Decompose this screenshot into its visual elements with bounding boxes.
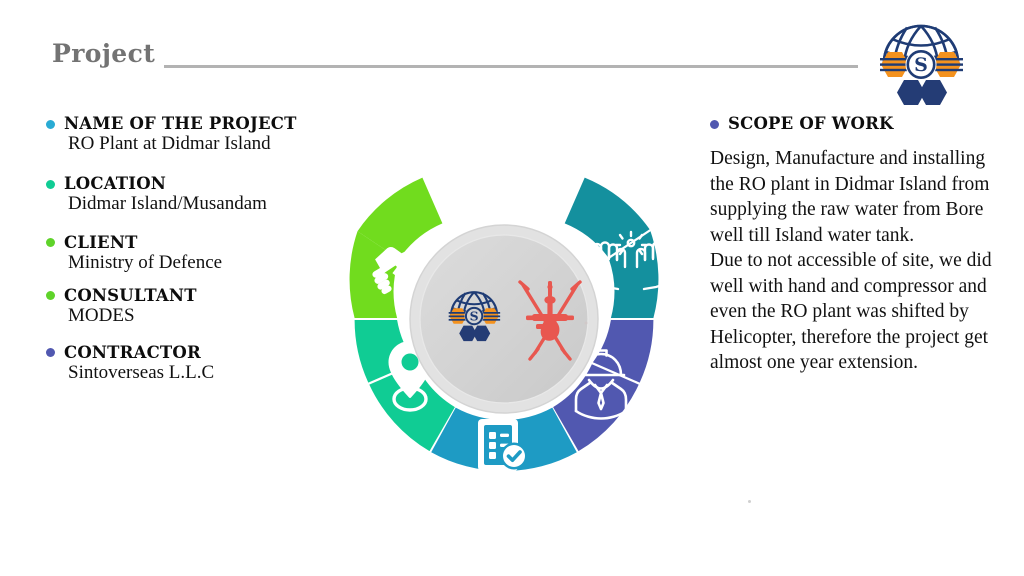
logo-svg: S bbox=[866, 8, 976, 108]
scope-of-work-block: SCOPE OF WORK Design, Manufacture and in… bbox=[710, 115, 1010, 375]
bullet-header: CONSULTANT bbox=[46, 287, 346, 305]
bullet-header: CONTRACTOR bbox=[46, 344, 346, 362]
scope-label: SCOPE OF WORK bbox=[728, 115, 894, 133]
list-item: CONTRACTOR Sintoverseas L.L.C bbox=[46, 344, 346, 385]
sintoverseas-logo-corner: S bbox=[866, 8, 976, 108]
bullet-header: NAME OF THE PROJECT bbox=[46, 115, 346, 133]
decorative-dot bbox=[748, 500, 751, 503]
scope-body: Design, Manufacture and installing the R… bbox=[710, 146, 1010, 375]
scope-paragraph: Due to not accessible of site, we did we… bbox=[710, 248, 1010, 375]
checklist-segment[interactable] bbox=[431, 408, 577, 471]
slide-root: Project bbox=[0, 0, 1024, 576]
bullet-dot-icon bbox=[46, 180, 55, 189]
bullet-header: SCOPE OF WORK bbox=[710, 115, 1010, 133]
list-item: CONSULTANT MODES bbox=[46, 287, 346, 328]
detail-label: CLIENT bbox=[64, 234, 138, 252]
list-item: NAME OF THE PROJECT RO Plant at Didmar I… bbox=[46, 115, 346, 156]
logo-letter-corner: S bbox=[914, 54, 928, 76]
list-item: LOCATION Didmar Island/Musandam bbox=[46, 175, 346, 216]
diagram-center: S bbox=[410, 225, 598, 413]
bullet-dot-icon bbox=[710, 120, 719, 129]
detail-value: Didmar Island/Musandam bbox=[68, 193, 346, 215]
detail-value: Ministry of Defence bbox=[68, 252, 346, 274]
scope-paragraph: Design, Manufacture and installing the R… bbox=[710, 146, 1010, 248]
page-title: Project bbox=[52, 41, 155, 66]
detail-label: LOCATION bbox=[64, 175, 166, 193]
bullet-dot-icon bbox=[46, 291, 55, 300]
donut-svg: S bbox=[312, 163, 696, 475]
detail-label: CONSULTANT bbox=[64, 287, 197, 305]
bullet-header: LOCATION bbox=[46, 175, 346, 193]
bullet-dot-icon bbox=[46, 238, 55, 247]
title-divider bbox=[164, 65, 858, 68]
detail-label: CONTRACTOR bbox=[64, 344, 201, 362]
detail-value: RO Plant at Didmar Island bbox=[68, 133, 346, 155]
bullet-dot-icon bbox=[46, 120, 55, 129]
logo-letter-center: S bbox=[470, 309, 479, 324]
project-details-list: NAME OF THE PROJECT RO Plant at Didmar I… bbox=[46, 115, 346, 384]
detail-label: NAME OF THE PROJECT bbox=[64, 115, 297, 133]
detail-value: MODES bbox=[68, 305, 346, 327]
process-donut-diagram: S bbox=[312, 163, 696, 475]
detail-value: Sintoverseas L.L.C bbox=[68, 362, 346, 384]
bullet-dot-icon bbox=[46, 348, 55, 357]
bullet-header: CLIENT bbox=[46, 234, 346, 252]
list-item: CLIENT Ministry of Defence bbox=[46, 234, 346, 275]
hexagon-bottom-right bbox=[919, 80, 947, 105]
